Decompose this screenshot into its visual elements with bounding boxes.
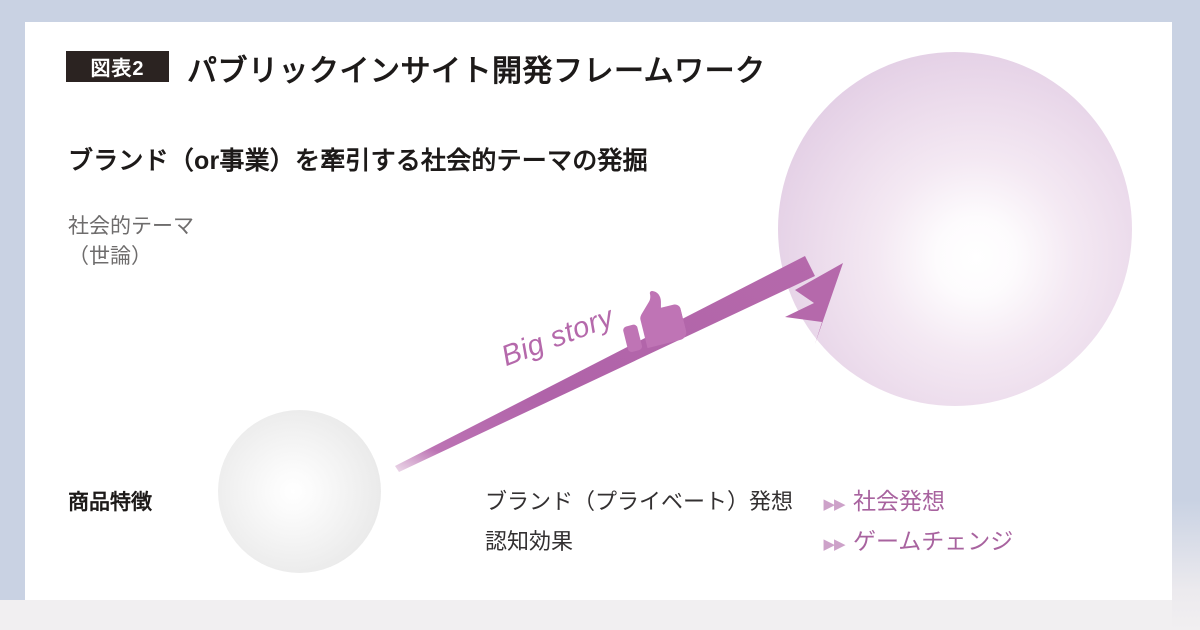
transition-marker-icon: ▶▶ <box>815 495 853 513</box>
figure-subtitle: ブランド（or事業）を牽引する社会的テーマの発掘 <box>68 141 648 177</box>
mat-bottom-edge <box>0 600 1200 630</box>
transition-from: ブランド（プライベート）発想 <box>485 484 815 516</box>
figure-canvas: Big story 図表2 パブリックインサイト開発フレームワーク ブランド（o… <box>25 22 1172 600</box>
figure-number-badge: 図表2 <box>66 51 169 82</box>
mat-right-edge-fade <box>1172 500 1200 630</box>
transition-marker-icon: ▶▶ <box>815 535 853 553</box>
transition-from: 認知効果 <box>485 524 815 556</box>
transition-to: 社会発想 <box>853 482 1013 516</box>
figure-title: パブリックインサイト開発フレームワーク <box>187 46 766 90</box>
figure-root: Big story 図表2 パブリックインサイト開発フレームワーク ブランド（o… <box>0 0 1200 630</box>
origin-axis-label: 商品特徴 <box>68 486 152 516</box>
transition-list: ブランド（プライベート）発想 ▶▶ 社会発想 認知効果 ▶▶ ゲームチェンジ <box>485 482 1013 556</box>
transition-to: ゲームチェンジ <box>853 522 1013 556</box>
vertical-axis-label: 社会的テーマ （世論） <box>68 212 194 272</box>
